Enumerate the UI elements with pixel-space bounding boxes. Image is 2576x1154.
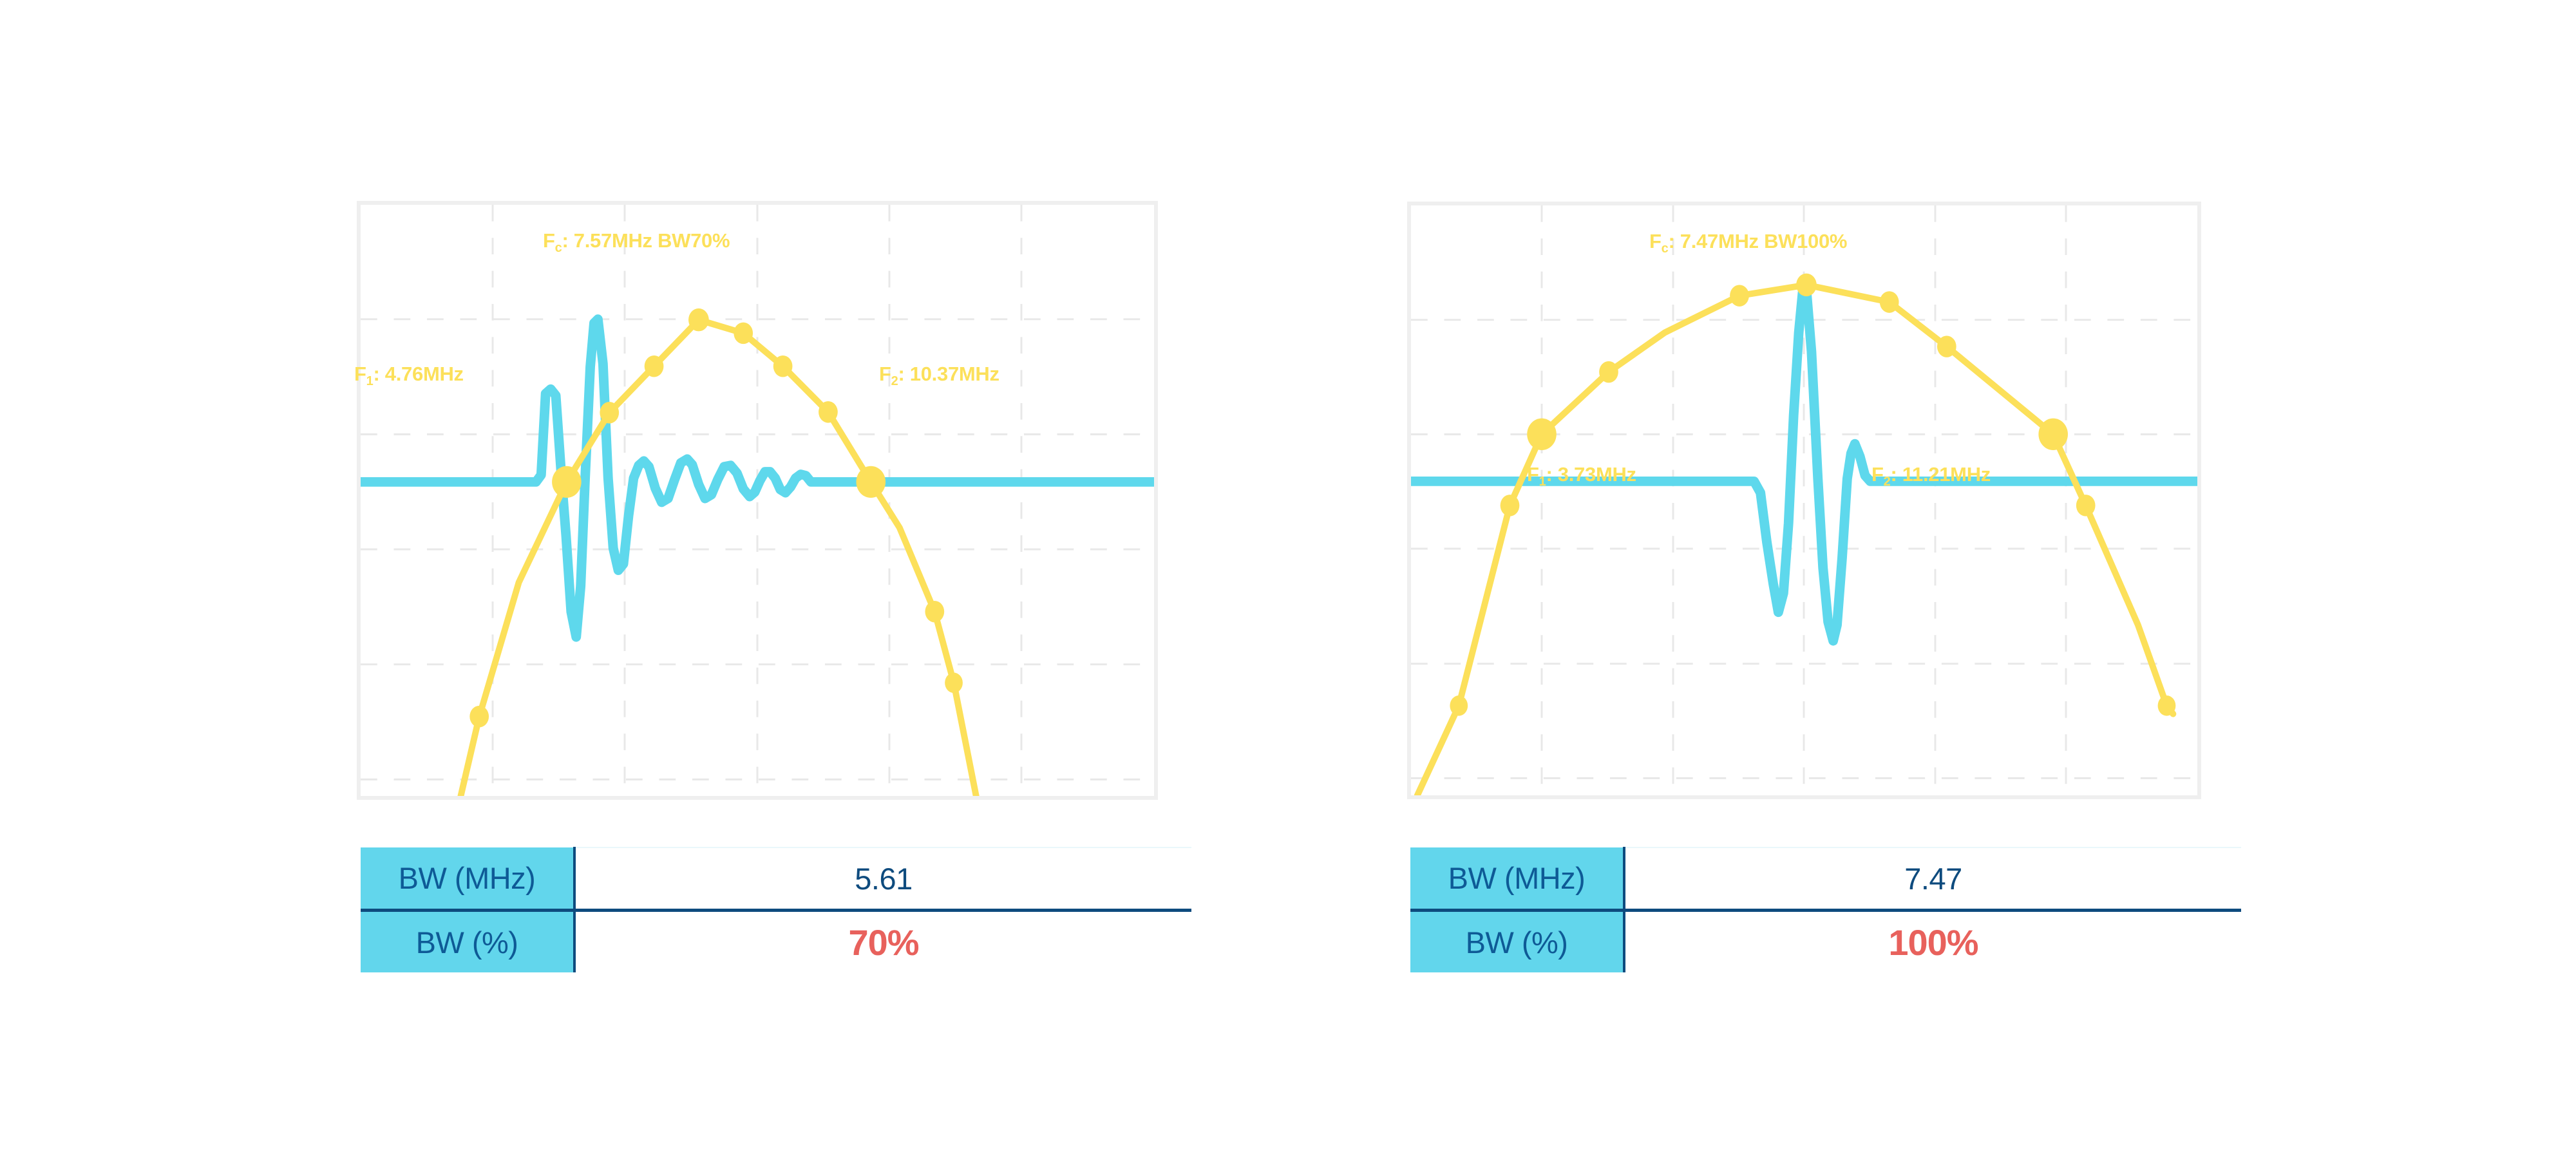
panel-bw70: Fc: 7.57MHz BW70% F1: 4.76MHz F2: 10.37M… — [0, 0, 1288, 1154]
label-center-frequency-bw70: Fc: 7.57MHz BW70% — [543, 229, 730, 256]
table-row: BW (%) 100% — [1410, 911, 2241, 973]
label-lower-frequency-bw100: F1: 3.73MHz — [1527, 463, 1636, 489]
label-upper-frequency-bw70: F2: 10.37MHz — [879, 363, 999, 389]
spectrum-plot-bw70: Fc: 7.57MHz BW70% F1: 4.76MHz F2: 10.37M… — [357, 201, 1158, 800]
table-value-bw-mhz: 5.61 — [574, 847, 1191, 911]
table-header-bw-percent: BW (%) — [1410, 911, 1624, 973]
table-value-bw-mhz: 7.47 — [1624, 847, 2241, 911]
table-row: BW (MHz) 7.47 — [1410, 847, 2241, 911]
table-header-bw-mhz: BW (MHz) — [1410, 847, 1624, 911]
table-row: BW (%) 70% — [361, 911, 1191, 973]
spectrum-curve-trace — [460, 320, 976, 796]
table-header-bw-percent: BW (%) — [361, 911, 574, 973]
label-lower-frequency-bw70: F1: 4.76MHz — [354, 363, 464, 389]
table-value-bw-percent: 100% — [1624, 911, 2241, 973]
spectrum-chart-svg-bw70 — [361, 205, 1154, 796]
panel-bw100: Fc: 7.47MHz BW100% F1: 3.73MHz F2: 11.21… — [1288, 0, 2576, 1154]
table-row: BW (MHz) 5.61 — [361, 847, 1191, 911]
label-upper-frequency-bw100: F2: 11.21MHz — [1871, 463, 1991, 489]
spectrum-plot-bw100: Fc: 7.47MHz BW100% F1: 3.73MHz F2: 11.21… — [1407, 202, 2201, 799]
bandwidth-table-bw100: BW (MHz) 7.47 BW (%) 100% — [1410, 847, 2241, 972]
label-center-frequency-bw100: Fc: 7.47MHz BW100% — [1649, 230, 1847, 256]
table-value-bw-percent: 70% — [574, 911, 1191, 973]
table-header-bw-mhz: BW (MHz) — [361, 847, 574, 911]
spectrum-chart-svg-bw100 — [1411, 205, 2197, 795]
pulse-waveform-trace — [361, 319, 1154, 638]
bandwidth-table-bw70: BW (MHz) 5.61 BW (%) 70% — [361, 847, 1191, 972]
